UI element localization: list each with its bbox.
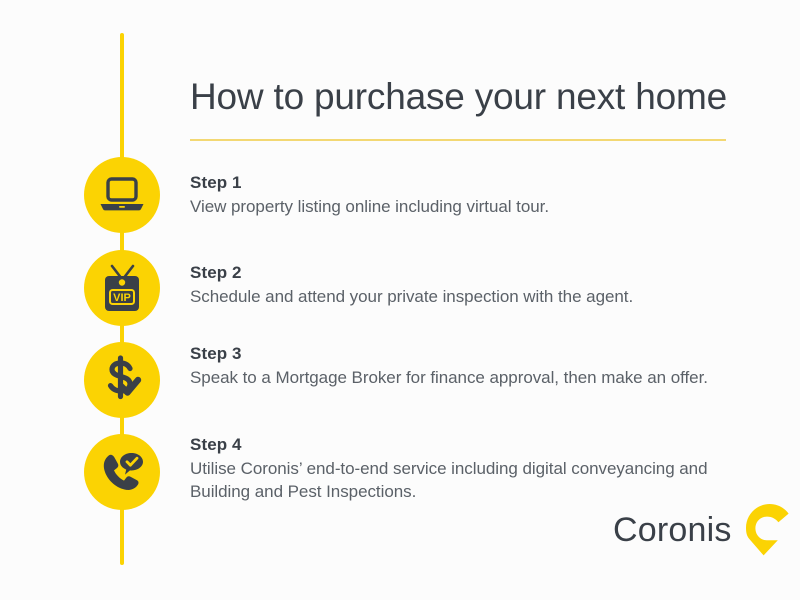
step-3-title: Step 3 (190, 344, 750, 364)
phone-check-icon (98, 449, 146, 495)
step-2-title: Step 2 (190, 263, 750, 283)
step-1: Step 1 View property listing online incl… (190, 173, 750, 218)
step-4-body: Utilise Coronis’ end-to-end service incl… (190, 457, 750, 503)
step-1-icon-bubble (84, 157, 160, 233)
page-title: How to purchase your next home (190, 76, 735, 118)
infographic-canvas: How to purchase your next home Step 1 Vi… (0, 0, 800, 600)
vip-tag-icon: VIP (100, 263, 144, 313)
step-1-body: View property listing online including v… (190, 195, 750, 218)
step-3: Step 3 Speak to a Mortgage Broker for fi… (190, 344, 750, 389)
coronis-c-pin-logo-icon (746, 504, 792, 556)
laptop-icon (99, 176, 145, 214)
step-1-title: Step 1 (190, 173, 750, 193)
step-4: Step 4 Utilise Coronis’ end-to-end servi… (190, 435, 750, 503)
step-3-icon-bubble (84, 342, 160, 418)
step-4-icon-bubble (84, 434, 160, 510)
brand-lockup: Coronis (613, 504, 792, 556)
vip-tag-label: VIP (113, 292, 131, 304)
step-4-title: Step 4 (190, 435, 750, 455)
brand-wordmark: Coronis (613, 513, 732, 547)
title-underline-rule (190, 139, 726, 141)
step-2: Step 2 Schedule and attend your private … (190, 263, 750, 308)
step-2-body: Schedule and attend your private inspect… (190, 285, 750, 308)
step-2-icon-bubble: VIP (84, 250, 160, 326)
dollar-check-icon (99, 355, 145, 405)
step-3-body: Speak to a Mortgage Broker for finance a… (190, 366, 750, 389)
